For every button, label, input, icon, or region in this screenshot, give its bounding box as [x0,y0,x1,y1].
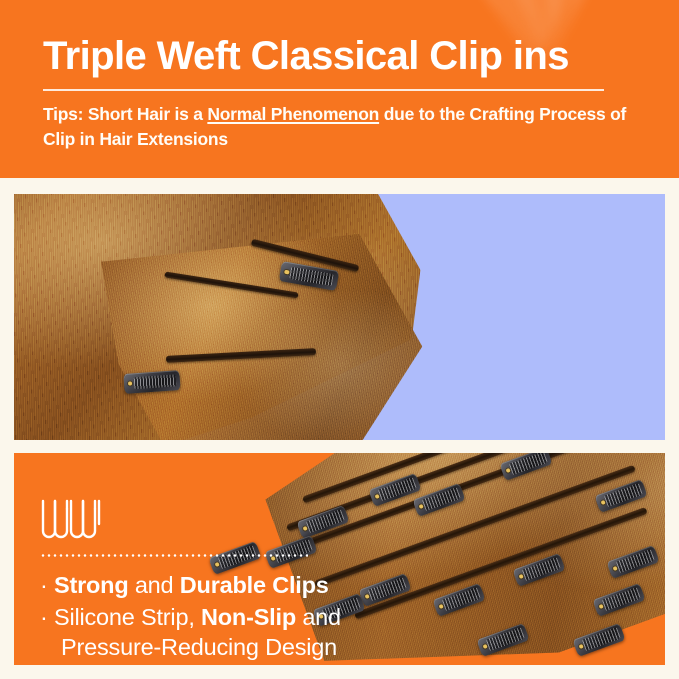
bullet-text: and [296,604,341,630]
bullet-text-emphasis: Non-Slip [201,604,296,630]
tips-text: Tips: Short Hair is a Normal Phenomenon … [43,91,628,152]
snap-clip [123,370,180,394]
tips-highlight: Normal Phenomenon [207,104,379,124]
header-banner: Triple Weft Classical Clip ins Tips: Sho… [0,0,679,178]
feature-text-block-bottom: · Strong and Durable Clips · Silicone St… [40,498,460,662]
product-infographic: Triple Weft Classical Clip ins Tips: Sho… [0,0,679,679]
bullet-marker: · [40,604,54,630]
feature-panel-clips: · Strong and Durable Clips · Silicone St… [14,453,665,665]
triple-weft-icon [40,498,102,542]
bullet-text-emphasis: Strong [54,572,129,598]
feature-panel-triple-weft: · Triple Weft · More Invisible, Flatter [14,194,665,440]
bullet-text-emphasis: Durable Clips [180,572,329,598]
feature-bullet-bottom-2: · Silicone Strip, Non-Slip and [40,600,460,632]
bullet-text: Pressure-Reducing Design [61,634,337,660]
page-title: Triple Weft Classical Clip ins [43,0,647,81]
bullet-marker: · [40,572,54,598]
feature-bullet-bottom-1: · Strong and Durable Clips [40,557,460,600]
bullet-text: Silicone Strip, [54,604,201,630]
bullet-text: and [128,572,179,598]
feature-bullet-bottom-3: Pressure-Reducing Design [40,632,460,662]
tips-prefix: Tips: Short Hair is a [43,104,207,124]
